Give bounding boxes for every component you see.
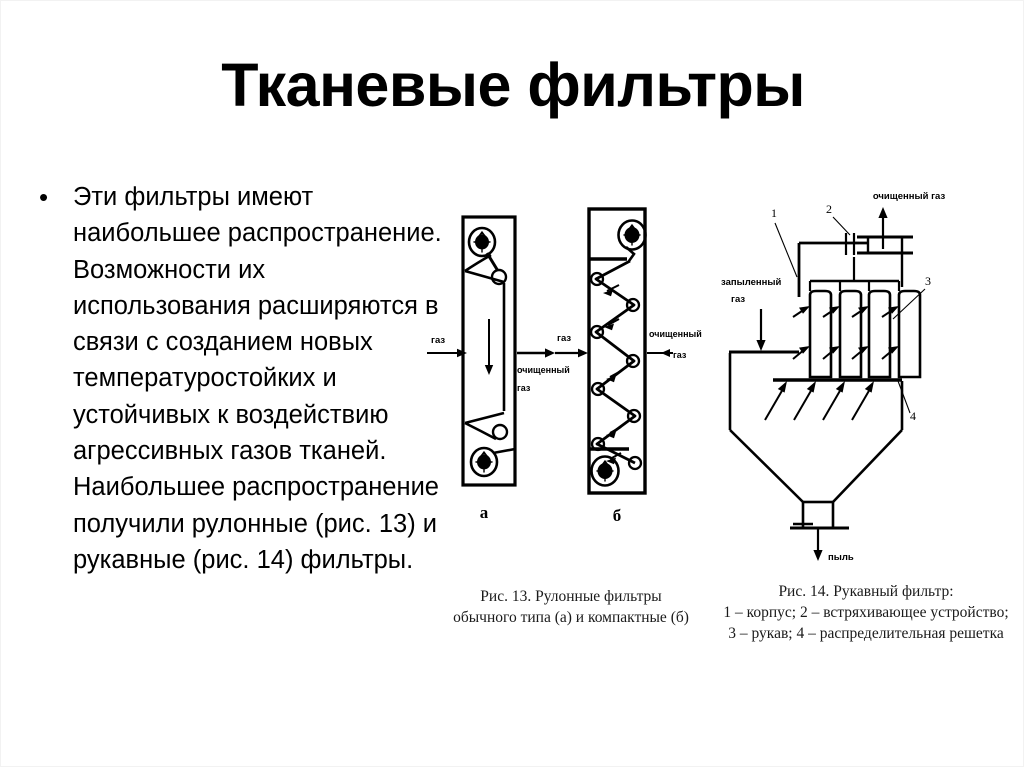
fig13-panel-b-key: б: [613, 506, 622, 525]
fig14-clean-gas-label: очищенный газ: [873, 191, 946, 202]
fig13b-outlet-label-1: очищенный: [649, 329, 702, 339]
fig14-dust-label: пыль: [828, 552, 854, 563]
bullet-marker: •: [31, 179, 73, 215]
fig13a-outlet-label-1: очищенный: [517, 365, 570, 375]
bullet-text: Эти фильтры имеют наибольшее распростран…: [73, 179, 445, 578]
slide-canvas: Тканевые фильтры • Эти фильтры имеют наи…: [0, 0, 1024, 767]
figure-13-caption: Рис. 13. Рулонные фильтры обычного типа …: [431, 586, 711, 628]
supply-roller-b: [619, 221, 646, 250]
fig13b-inlet-label: газ: [557, 333, 571, 344]
figure-13-roll-filters: газ очищенный газ а: [421, 201, 711, 561]
fig13b-outlet-label-2: газ: [673, 350, 687, 360]
page-title: Тканевые фильтры: [1, 53, 1024, 117]
fig14-callout-1: 1: [771, 206, 777, 220]
roll-filter-conventional: газ очищенный газ а: [427, 217, 570, 522]
fig13a-outlet-label-2: газ: [517, 383, 531, 393]
roll-filter-compact: газ очищенный газ б: [555, 209, 702, 525]
figure-14-bag-filter: очищенный газ 2 1 запыленный газ: [713, 177, 1018, 567]
figure-13-caption-line-2: обычного типа (а) и компактные (б): [431, 607, 711, 628]
figure-14-caption-line-2: 1 – корпус; 2 – встряхивающее устройство…: [706, 602, 1024, 623]
figure-14-caption: Рис. 14. Рукавный фильтр: 1 – корпус; 2 …: [706, 581, 1024, 644]
fig13-panel-a-key: а: [480, 503, 489, 522]
fig14-callout-4: 4: [910, 409, 916, 423]
filter-bags: [810, 291, 920, 377]
fig14-callout-3: 3: [925, 274, 931, 288]
figure-14-caption-line-1: Рис. 14. Рукавный фильтр:: [706, 581, 1024, 602]
fig14-dusty-gas-label-1: запыленный: [721, 277, 782, 288]
supply-roller-a: [469, 228, 495, 256]
bullet-list: • Эти фильтры имеют наибольшее распростр…: [31, 179, 451, 578]
figure-14-caption-line-3: 3 – рукав; 4 – распределительная решетка: [706, 623, 1024, 644]
takeup-roller-b: [592, 457, 619, 486]
fig13a-inlet-label: газ: [431, 335, 445, 346]
gas-upflow-arrows: [765, 381, 874, 420]
figure-13-caption-line-1: Рис. 13. Рулонные фильтры: [431, 586, 711, 607]
fig14-dusty-gas-label-2: газ: [731, 294, 745, 305]
fig14-callout-2: 2: [826, 202, 832, 216]
